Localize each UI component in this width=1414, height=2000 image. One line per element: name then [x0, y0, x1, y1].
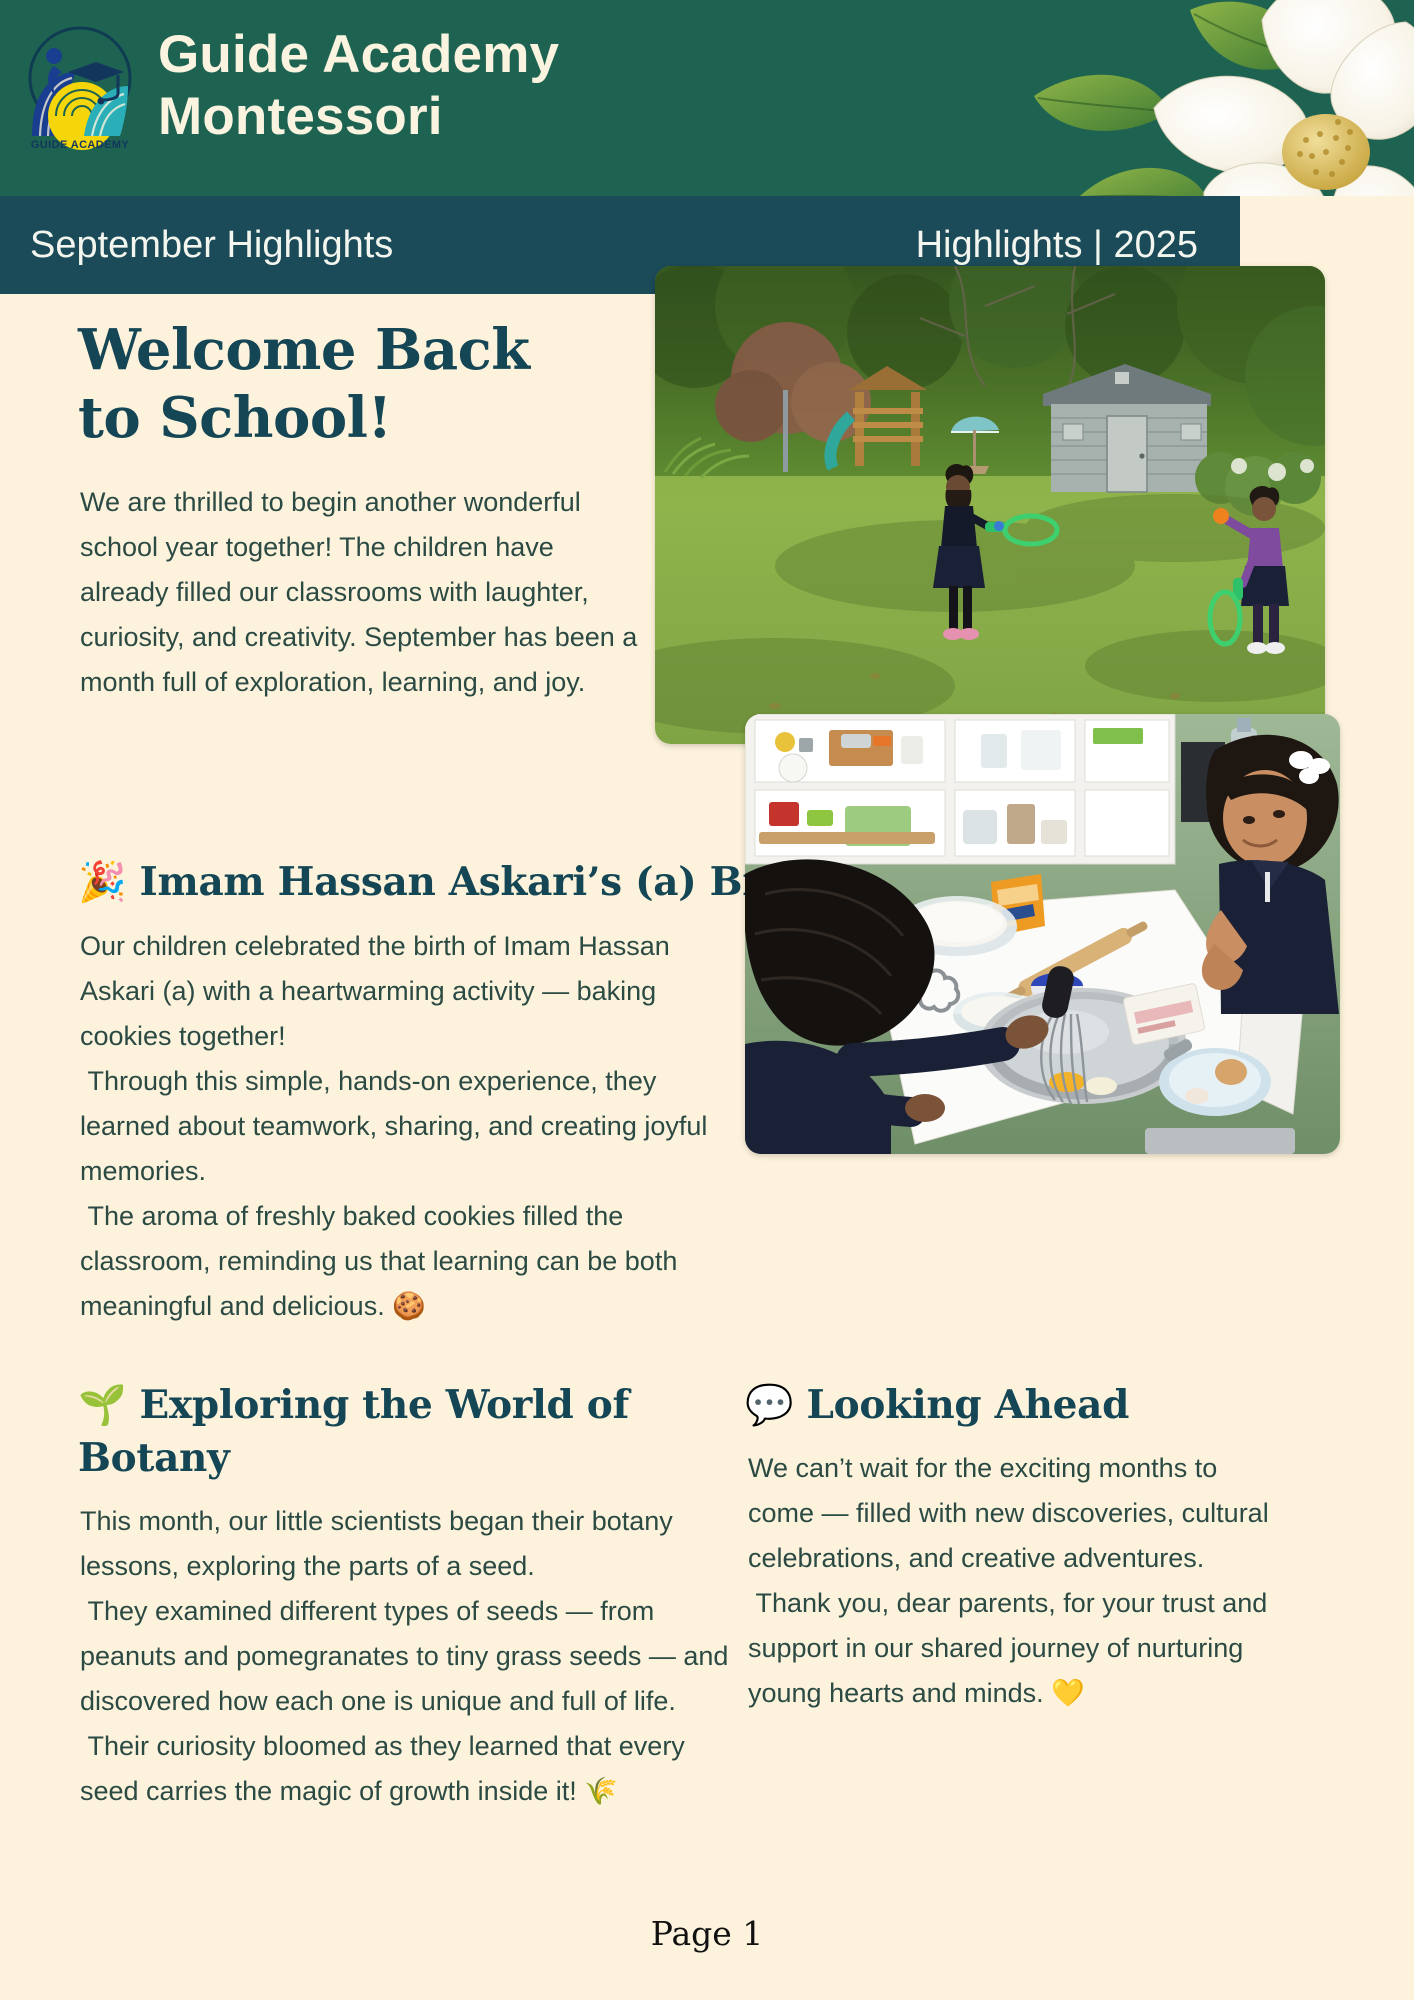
photo-outdoor-play	[655, 266, 1325, 744]
brand-line-1: Guide Academy	[158, 24, 559, 86]
welcome-paragraph: We are thrilled to begin another wonderf…	[80, 480, 640, 705]
newsletter-body: Welcome Back to School! We are thrilled …	[0, 294, 1414, 2000]
issue-month: September Highlights	[30, 222, 393, 268]
birthday-paragraph: Our children celebrated the birth of Ima…	[80, 924, 730, 1329]
photo-baking-cookies	[745, 714, 1340, 1154]
svg-text:GUIDE ACADEMY: GUIDE ACADEMY	[31, 139, 130, 151]
brand-title: Guide Academy Montessori	[158, 24, 559, 148]
looking-ahead-paragraph: We can’t wait for the exciting months to…	[748, 1446, 1288, 1716]
issue-year: Highlights | 2025	[916, 222, 1198, 268]
speech-balloon-icon: 💬	[745, 1383, 793, 1428]
section-heading-looking-ahead-label: Looking Ahead	[807, 1382, 1130, 1428]
brand-line-2: Montessori	[158, 86, 559, 148]
masthead: GUIDE ACADEMY Guide Academy Montessori	[0, 0, 1414, 196]
page-footer: Page 1	[0, 1914, 1414, 1953]
section-heading-looking-ahead: 💬 Looking Ahead	[745, 1379, 1305, 1432]
seedling-icon: 🌱	[78, 1383, 126, 1428]
magnolia-flower-decoration	[994, 0, 1414, 196]
newsletter-page: GUIDE ACADEMY Guide Academy Montessori	[0, 0, 1414, 2000]
party-popper-icon: 🎉	[78, 860, 126, 905]
section-heading-botany: 🌱 Exploring the World of Botany	[78, 1379, 638, 1484]
page-number: Page 1	[651, 1914, 764, 1953]
section-heading-botany-label: Exploring the World of Botany	[78, 1382, 629, 1481]
botany-paragraph: This month, our little scientists began …	[80, 1499, 730, 1814]
guide-academy-logo: GUIDE ACADEMY	[22, 20, 138, 152]
page-title: Welcome Back to School!	[78, 316, 598, 452]
